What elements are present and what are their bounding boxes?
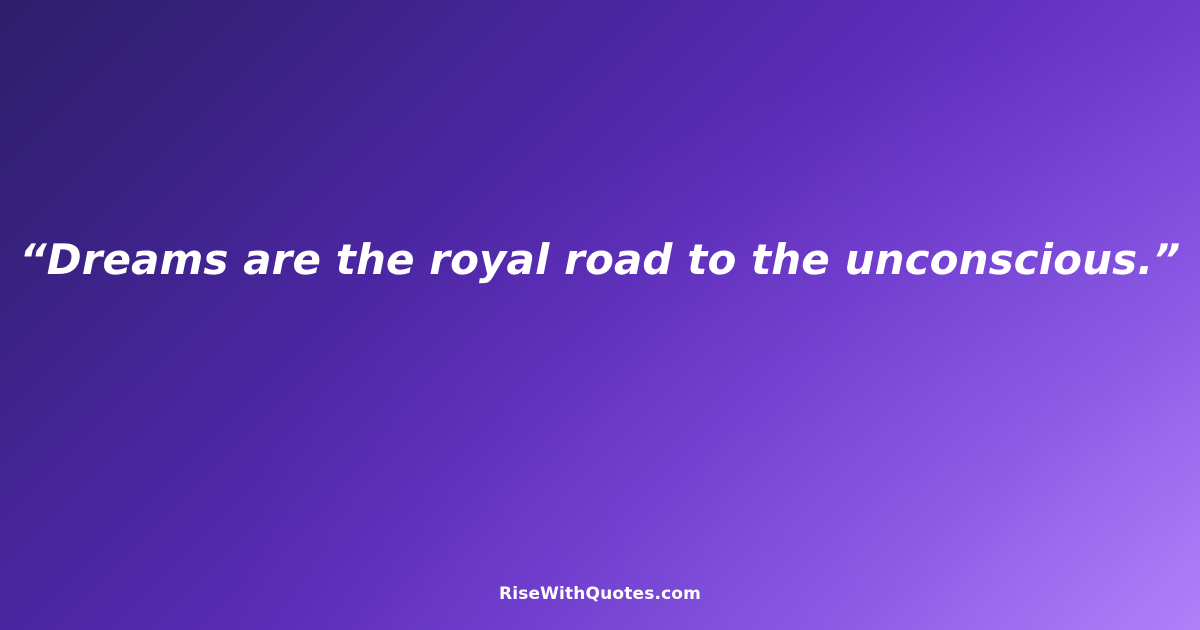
quote-card: “Dreams are the royal road to the uncons…	[0, 0, 1200, 630]
quote-text: “Dreams are the royal road to the uncons…	[20, 234, 1181, 287]
site-credit-label: RiseWithQuotes.com	[499, 584, 701, 604]
quote-container: “Dreams are the royal road to the uncons…	[0, 234, 1200, 287]
footer-container: RiseWithQuotes.com	[0, 584, 1200, 604]
